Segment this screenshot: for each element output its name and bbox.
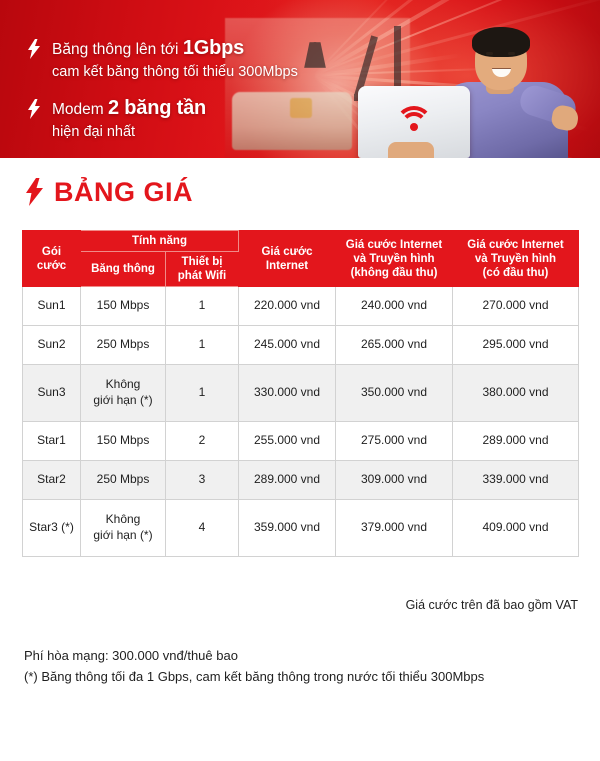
cell-internet-tv-with-box: 270.000 vnd (453, 287, 579, 326)
cell-internet-tv-with-box: 409.000 vnd (453, 500, 579, 557)
cell-internet-tv-no-box: 350.000 vnd (336, 365, 453, 422)
cell-bandwidth: 250 Mbps (81, 461, 166, 500)
header-internet-tv-no-box-line1: Giá cước Internet (346, 239, 442, 251)
person-holding-hand (388, 142, 434, 158)
cell-internet-price: 220.000 vnd (239, 287, 336, 326)
cell-wifi-devices: 3 (166, 461, 239, 500)
header-internet-tv-no-box-line2: và Truyền hình (353, 253, 434, 265)
header-internet-tv-with-box-line2: và Truyền hình (475, 253, 556, 265)
table-row: Star3 (*)Khônggiới hạn (*)4359.000 vnd37… (23, 500, 579, 557)
cell-wifi-devices: 1 (166, 326, 239, 365)
cell-internet-price: 245.000 vnd (239, 326, 336, 365)
cell-wifi-devices: 1 (166, 365, 239, 422)
table-row: Star1150 Mbps2255.000 vnd275.000 vnd289.… (23, 422, 579, 461)
header-bandwidth: Băng thông (81, 252, 166, 287)
cell-internet-tv-with-box: 339.000 vnd (453, 461, 579, 500)
lightning-bolt-icon (28, 39, 40, 59)
cell-wifi-devices: 2 (166, 422, 239, 461)
table-body: Sun1150 Mbps1220.000 vnd240.000 vnd270.0… (23, 287, 579, 557)
cell-internet-tv-with-box: 380.000 vnd (453, 365, 579, 422)
table-row: Sun2250 Mbps1245.000 vnd265.000 vnd295.0… (23, 326, 579, 365)
header-wifi-device-line1: Thiết bị (182, 256, 223, 268)
cell-internet-tv-no-box: 265.000 vnd (336, 326, 453, 365)
cell-bandwidth: 250 Mbps (81, 326, 166, 365)
installation-fee-note: Phí hòa mạng: 300.000 vnđ/thuê bao (24, 645, 484, 666)
table-row: Sun1150 Mbps1220.000 vnd240.000 vnd270.0… (23, 287, 579, 326)
person-hair (472, 27, 530, 57)
banner-bullet-1: Băng thông lên tới 1Gbps cam kết băng th… (28, 36, 298, 82)
banner-bullet-2-highlight: 2 băng tần (108, 97, 206, 119)
cell-package: Sun1 (23, 287, 81, 326)
cell-internet-tv-with-box: 289.000 vnd (453, 422, 579, 461)
cell-bandwidth: 150 Mbps (81, 287, 166, 326)
header-internet-tv-with-box-line1: Giá cước Internet (467, 239, 563, 251)
banner-bullet-1-prefix: Băng thông lên tới (52, 41, 183, 58)
hero-banner: Băng thông lên tới 1Gbps cam kết băng th… (0, 0, 600, 158)
page-title: BẢNG GIÁ (54, 179, 193, 206)
cell-internet-tv-no-box: 379.000 vnd (336, 500, 453, 557)
cell-bandwidth: 150 Mbps (81, 422, 166, 461)
cell-internet-tv-with-box: 295.000 vnd (453, 326, 579, 365)
cell-package: Sun3 (23, 365, 81, 422)
header-package: Gói cước (23, 231, 81, 287)
banner-text-block: Băng thông lên tới 1Gbps cam kết băng th… (28, 36, 298, 156)
cell-internet-price: 359.000 vnd (239, 500, 336, 557)
table-header-row-1: Gói cước Tính năng Giá cước Internet Giá… (23, 231, 579, 252)
vat-note: Giá cước trên đã bao gồm VAT (406, 598, 578, 612)
cell-internet-price: 255.000 vnd (239, 422, 336, 461)
banner-bullet-2-prefix: Modem (52, 101, 108, 118)
header-internet-tv-no-box-line3: (không đầu thu) (351, 267, 438, 279)
cell-package: Star2 (23, 461, 81, 500)
header-internet-price-line2: Internet (266, 260, 308, 272)
person-eye-left (486, 52, 493, 55)
cell-internet-price: 330.000 vnd (239, 365, 336, 422)
header-internet-tv-with-box: Giá cước Internet và Truyền hình (có đầu… (453, 231, 579, 287)
header-internet-price: Giá cước Internet (239, 231, 336, 287)
banner-bullet-1-line2: cam kết băng thông tối thiểu 300Mbps (52, 64, 298, 80)
cell-bandwidth: Khônggiới hạn (*) (81, 500, 166, 557)
lightning-bolt-icon (28, 99, 40, 119)
table-row: Sun3Khônggiới hạn (*)1330.000 vnd350.000… (23, 365, 579, 422)
cell-internet-price: 289.000 vnd (239, 461, 336, 500)
banner-bullet-1-highlight: 1Gbps (183, 37, 244, 59)
cell-package: Star1 (23, 422, 81, 461)
person-eye-right (508, 52, 515, 55)
banner-bullet-1-line1: Băng thông lên tới 1Gbps (52, 41, 244, 58)
cell-wifi-devices: 1 (166, 287, 239, 326)
section-title: BẢNG GIÁ (26, 178, 193, 206)
wifi-icon (398, 106, 430, 132)
footer-notes: Phí hòa mạng: 300.000 vnđ/thuê bao (*) B… (24, 645, 484, 687)
cell-internet-tv-no-box: 309.000 vnd (336, 461, 453, 500)
cell-internet-tv-no-box: 275.000 vnd (336, 422, 453, 461)
header-internet-tv-no-box: Giá cước Internet và Truyền hình (không … (336, 231, 453, 287)
header-features-group: Tính năng (81, 231, 239, 252)
cell-package: Sun2 (23, 326, 81, 365)
banner-bullet-2-line2: hiện đại nhất (52, 124, 135, 140)
cell-package: Star3 (*) (23, 500, 81, 557)
lightning-bolt-icon (26, 178, 43, 206)
banner-bullet-2-line1: Modem 2 băng tần (52, 101, 206, 118)
cell-wifi-devices: 4 (166, 500, 239, 557)
table-row: Star2250 Mbps3289.000 vnd309.000 vnd339.… (23, 461, 579, 500)
cell-internet-tv-no-box: 240.000 vnd (336, 287, 453, 326)
header-internet-tv-with-box-line3: (có đầu thu) (483, 267, 549, 279)
header-internet-price-line1: Giá cước (261, 246, 312, 258)
price-table: Gói cước Tính năng Giá cước Internet Giá… (22, 230, 579, 557)
table-header: Gói cước Tính năng Giá cước Internet Giá… (23, 231, 579, 287)
cell-bandwidth: Khônggiới hạn (*) (81, 365, 166, 422)
header-wifi-device-line2: phát Wifi (178, 270, 226, 282)
asterisk-note: (*) Băng thông tối đa 1 Gbps, cam kết bă… (24, 666, 484, 687)
banner-bullet-2: Modem 2 băng tần hiện đại nhất (28, 96, 298, 142)
header-wifi-device: Thiết bị phát Wifi (166, 252, 239, 287)
